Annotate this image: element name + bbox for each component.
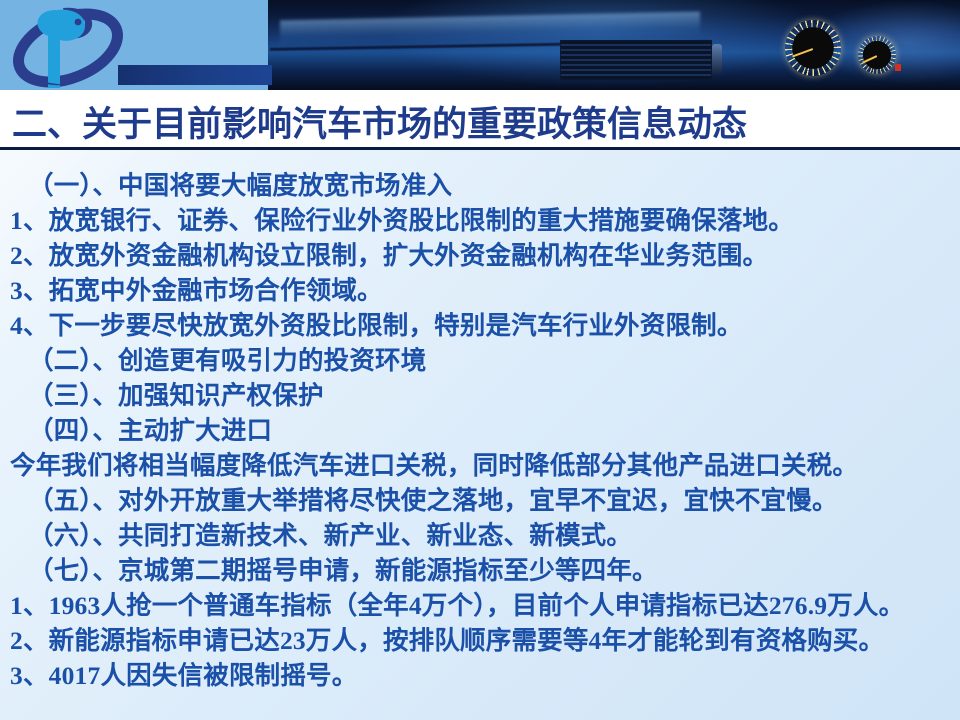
- body-line: 2、放宽外资金融机构设立限制，扩大外资金融机构在华业务范围。: [10, 238, 954, 273]
- body-line: （四）、主动扩大进口: [10, 413, 954, 448]
- body-line: 1、1963人抢一个普通车指标（全年4万个），目前个人申请指标已达276.9万人…: [10, 588, 954, 623]
- air-vent-icon: [560, 40, 712, 80]
- body-line: 今年我们将相当幅度降低汽车进口关税，同时降低部分其他产品进口关税。: [10, 448, 954, 483]
- header-accent-bar: [118, 65, 272, 85]
- body-line: 2、新能源指标申请已达23万人，按排队顺序需要等4年才能轮到有资格购买。: [10, 623, 954, 658]
- body-line: （二）、创造更有吸引力的投资环境: [10, 343, 954, 378]
- warning-light-icon: [895, 64, 901, 71]
- slide-body: （一）、中国将要大幅度放宽市场准入1、放宽银行、证券、保险行业外资股比限制的重大…: [0, 150, 960, 720]
- body-line: 3、4017人因失信被限制摇号。: [10, 658, 954, 693]
- body-line: （六）、共同打造新技术、新产业、新业态、新模式。: [10, 518, 954, 553]
- slide-header-banner: [0, 0, 960, 90]
- body-line: （五）、对外开放重大举措将尽快使之落地，宜早不宜迟，宜快不宜慢。: [10, 483, 954, 518]
- body-line: 3、拓宽中外金融市场合作领域。: [10, 273, 954, 308]
- body-line-list: （一）、中国将要大幅度放宽市场准入1、放宽银行、证券、保险行业外资股比限制的重大…: [10, 168, 954, 693]
- body-line: 4、下一步要尽快放宽外资股比限制，特别是汽车行业外资限制。: [10, 308, 954, 343]
- vent-knob-icon: [712, 44, 722, 74]
- body-line: （三）、加强知识产权保护: [10, 378, 954, 413]
- presentation-slide: 二、关于目前影响汽车市场的重要政策信息动态 （一）、中国将要大幅度放宽市场准入1…: [0, 0, 960, 720]
- body-line: （一）、中国将要大幅度放宽市场准入: [10, 168, 954, 203]
- speedometer-gauge-icon: [785, 20, 841, 76]
- association-logo-icon: [8, 2, 128, 90]
- tachometer-gauge-icon: [858, 36, 896, 74]
- body-line: 1、放宽银行、证券、保险行业外资股比限制的重大措施要确保落地。: [10, 203, 954, 238]
- page-title: 二、关于目前影响汽车市场的重要政策信息动态: [12, 96, 948, 147]
- body-line: （七）、京城第二期摇号申请，新能源指标至少等四年。: [10, 553, 954, 588]
